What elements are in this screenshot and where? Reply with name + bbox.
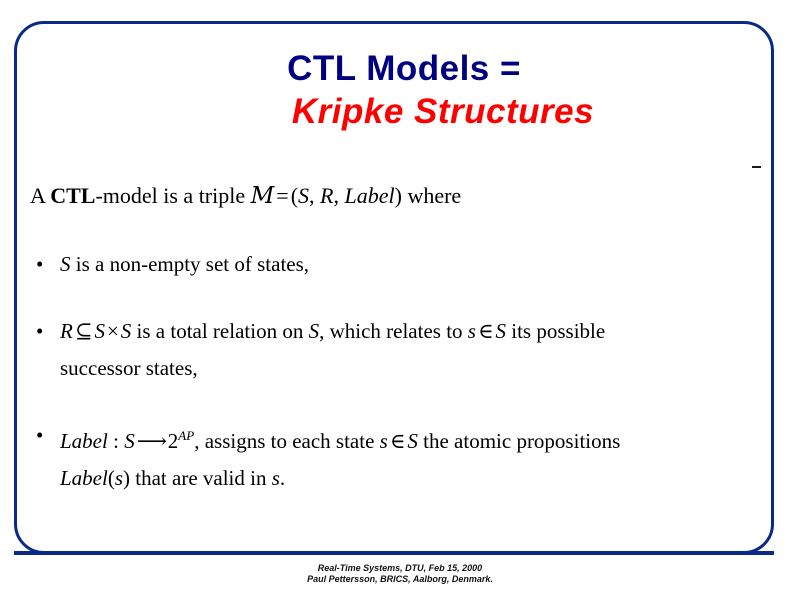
var-s-left: S	[94, 319, 105, 343]
var-s-right: S	[121, 319, 132, 343]
fn-paren-close: )	[123, 466, 130, 490]
paren-open: (	[291, 183, 298, 208]
element-of-symbol: ∈	[476, 319, 496, 343]
label-function-name: Label	[60, 429, 108, 453]
label-text-3: that are valid in	[135, 466, 266, 490]
bullet-item-label: • Label : S⟶2AP, assigns to each state s…	[30, 417, 760, 497]
var-r-relation: R	[60, 319, 73, 343]
bullet-text-label-line2: Label(s) that are valid in s.	[60, 460, 760, 497]
slide-title-secondary: Kripke Structures	[40, 90, 760, 134]
slide-canvas: CTL Models = Kripke Structures A CTL-mod…	[0, 0, 800, 600]
footer-line-2: Paul Pettersson, BRICS, Aalborg, Denmark…	[0, 574, 800, 585]
comma-1: ,	[309, 183, 315, 208]
var-s-states: S	[60, 252, 71, 276]
bullet-dot-icon: •	[36, 246, 43, 283]
intro-mid: -model is a triple	[95, 183, 250, 208]
var-s-on: S	[309, 319, 320, 343]
fn-paren-open: (	[108, 466, 115, 490]
definition-intro-line: A CTL-model is a triple M=(S, R, Label) …	[30, 182, 760, 210]
times-symbol: ×	[105, 319, 121, 343]
subset-symbol: ⊆	[73, 319, 95, 343]
var-s-small: s	[468, 319, 476, 343]
footer-credits: Real-Time Systems, DTU, Feb 15, 2000 Pau…	[0, 563, 800, 585]
bullet-item-states: • S is a non-empty set of states,	[30, 246, 760, 283]
var-s-domain: S	[124, 429, 135, 453]
bullet-text-states: S is a non-empty set of states,	[60, 246, 760, 283]
intro-bold-term: CTL	[50, 183, 95, 208]
fn-argument-s: s	[115, 466, 123, 490]
label-text-2: the atomic propositions	[423, 429, 620, 453]
var-label: Label	[344, 183, 394, 208]
var-s: S	[298, 183, 309, 208]
states-description: is a non-empty set of states,	[76, 252, 309, 276]
label-text-1: , assigns to each state	[194, 429, 374, 453]
bullet-text-label: Label : S⟶2AP, assigns to each state s∈S…	[60, 417, 760, 460]
bullet-text-relation-line2: successor states,	[60, 350, 760, 387]
var-s-small-label: s	[380, 429, 388, 453]
label-fn-applied: Label	[60, 466, 108, 490]
power-exponent-ap: AP	[178, 428, 194, 443]
title-block: CTL Models = Kripke Structures	[40, 48, 760, 134]
slide-title-primary: CTL Models =	[40, 48, 760, 90]
stray-dash-artifact	[752, 166, 761, 168]
paren-close: )	[395, 183, 402, 208]
symbol-m-calligraphic: M	[251, 183, 275, 209]
relation-text-3: its possible	[511, 319, 605, 343]
colon-symbol: :	[113, 429, 119, 453]
intro-prefix: A	[30, 183, 50, 208]
var-r: R	[320, 183, 333, 208]
definition-bullet-list: • S is a non-empty set of states, • R⊆S×…	[30, 246, 760, 497]
relation-text-2: , which relates to	[319, 319, 462, 343]
var-s-member-label: S	[407, 429, 418, 453]
relation-text-1: is a total relation on	[137, 319, 304, 343]
bullet-text-relation: R⊆S×S is a total relation on S, which re…	[60, 313, 760, 350]
slide-body: A CTL-model is a triple M=(S, R, Label) …	[30, 182, 760, 497]
equals-sign: =	[274, 183, 290, 208]
intro-suffix: where	[407, 183, 461, 208]
element-of-symbol: ∈	[388, 429, 408, 453]
bullet-dot-icon: •	[36, 417, 43, 454]
var-s-valid: s	[272, 466, 280, 490]
comma-2: ,	[333, 183, 339, 208]
var-s-member: S	[496, 319, 507, 343]
bullet-dot-icon: •	[36, 313, 43, 350]
footer-line-1: Real-Time Systems, DTU, Feb 15, 2000	[0, 563, 800, 574]
footer-divider-rule	[14, 551, 774, 555]
power-base: 2	[168, 429, 179, 453]
sentence-period: .	[280, 466, 285, 490]
bullet-item-relation: • R⊆S×S is a total relation on S, which …	[30, 313, 760, 387]
maps-to-arrow-icon: ⟶	[135, 429, 168, 453]
